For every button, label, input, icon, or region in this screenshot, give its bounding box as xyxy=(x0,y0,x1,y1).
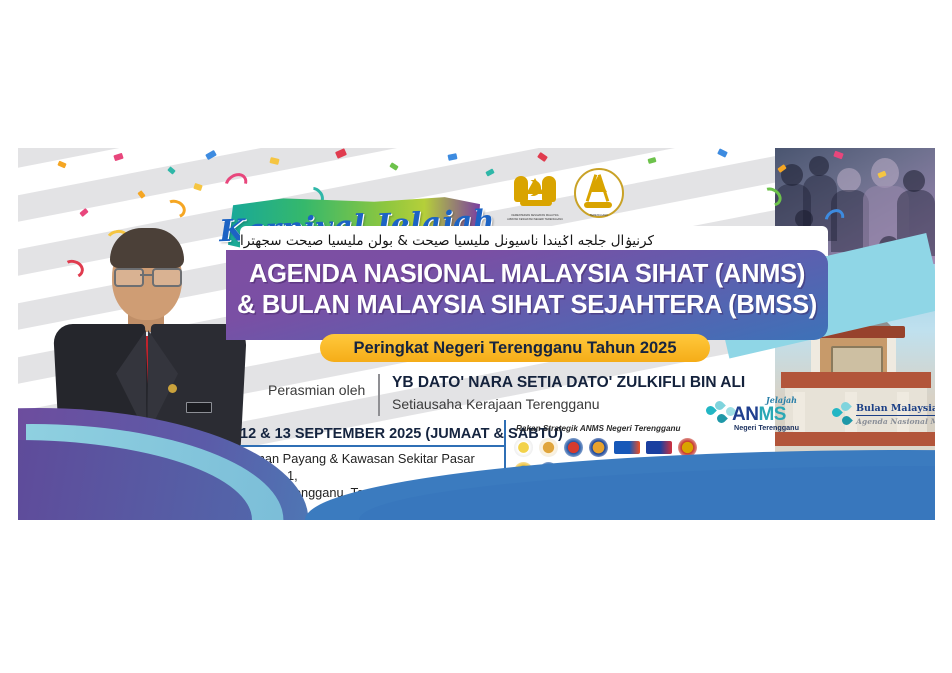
banner-canvas: KEMENTERIAN KESIHATAN MALAYSIA JABATAN K… xyxy=(0,0,952,673)
subtitle-pill: Peringkat Negeri Terengganu Tahun 2025 xyxy=(320,334,710,362)
officiator-name: YB DATO' NARA SETIA DATO' ZULKIFLI BIN A… xyxy=(392,374,745,392)
main-title-panel: AGENDA NASIONAL MALAYSIA SIHAT (ANMS) & … xyxy=(226,250,828,340)
terengganu-crest-caption: TERENGGANU xyxy=(568,214,630,218)
anms-sub-text: Negeri Terengganu xyxy=(734,423,799,432)
partner-logo-icon xyxy=(589,438,608,457)
officiator-block: Perasmian oleh YB DATO' NARA SETIA DATO'… xyxy=(268,372,738,418)
partner-logo-tm xyxy=(614,441,640,454)
moh-crest-icon xyxy=(508,166,564,216)
name-badge xyxy=(186,402,212,413)
moh-crest-caption: KEMENTERIAN KESIHATAN MALAYSIA JABATAN K… xyxy=(504,214,566,222)
officiator-position: Setiausaha Kerajaan Terengganu xyxy=(392,396,600,412)
event-banner: KEMENTERIAN KESIHATAN MALAYSIA JABATAN K… xyxy=(18,148,935,520)
title-line-1: AGENDA NASIONAL MALAYSIA SIHAT (ANMS) xyxy=(226,260,828,289)
glasses-icon xyxy=(114,268,144,287)
officiator-label: Perasmian oleh xyxy=(268,382,365,398)
partner-logo-icon xyxy=(678,438,697,457)
event-date: 12 & 13 SEPTEMBER 2025 (JUMAAT & SABTU) xyxy=(240,426,510,442)
brand-logos: Jelajah ANMS Negeri Terengganu Bulan Mal… xyxy=(698,396,935,436)
government-crests: KEMENTERIAN KESIHATAN MALAYSIA JABATAN K… xyxy=(508,166,628,230)
partner-logo-icon xyxy=(564,438,583,457)
anms-logo: Jelajah ANMS Negeri Terengganu xyxy=(704,398,816,434)
partner-logo-rtm xyxy=(646,441,672,454)
partners-label: Rakan Strategik ANMS Negeri Terengganu xyxy=(516,424,681,433)
officiator-divider xyxy=(378,374,380,416)
partner-logo-icon xyxy=(514,438,533,457)
date-underline xyxy=(240,445,506,447)
bmss-line-1: Bulan Malaysia Sihat Sejahtera xyxy=(856,403,935,414)
partner-logo-row xyxy=(514,438,702,457)
bmss-logo: Bulan Malaysia Sihat Sejahtera Agenda Na… xyxy=(830,398,935,434)
bmss-line-2: Agenda Nasional Malaysia Sihat xyxy=(856,417,935,426)
terengganu-crest-icon xyxy=(570,166,626,216)
partner-logo-icon xyxy=(539,438,558,457)
title-line-2: & BULAN MALAYSIA SIHAT SEJAHTERA (BMSS) xyxy=(226,291,828,320)
